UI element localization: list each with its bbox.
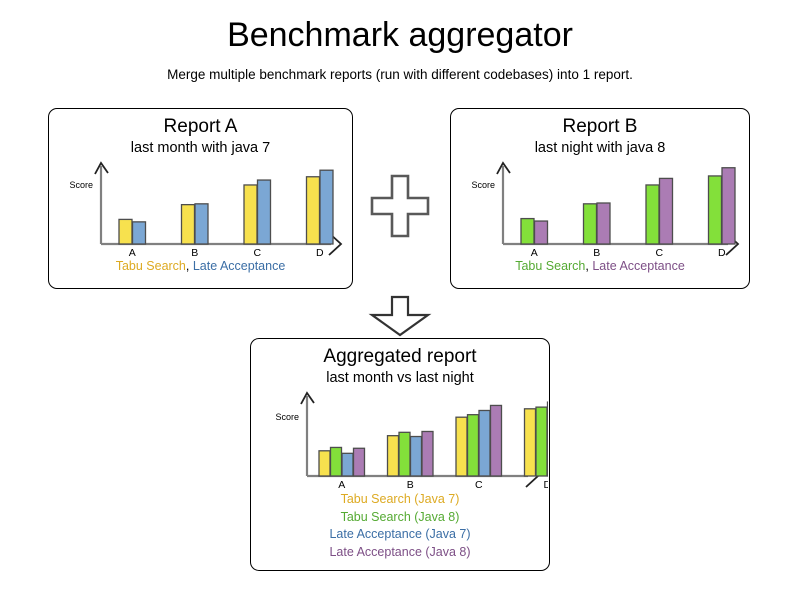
bar — [244, 185, 257, 244]
bar — [307, 177, 320, 244]
bar — [525, 409, 536, 476]
report-b-panel: Report B last night with java 8 ScoreABC… — [450, 108, 750, 289]
legend-item-late-acceptance-java8: Late Acceptance (Java 8) — [251, 544, 549, 562]
bar — [456, 417, 467, 476]
x-axis-tick-label: A — [129, 247, 136, 258]
bar — [331, 447, 342, 476]
bar — [535, 221, 548, 244]
aggregated-report-subtitle: last month vs last night — [251, 369, 549, 388]
report-b-legend: Tabu Search, Late Acceptance — [451, 258, 749, 276]
report-b-chart-svg: ScoreABCD — [451, 158, 748, 258]
x-axis-tick-label: D — [718, 247, 726, 258]
legend-item-late-acceptance: Late Acceptance — [193, 259, 285, 273]
bar — [660, 178, 673, 244]
x-axis-tick-label: D — [316, 247, 324, 258]
x-axis-tick-label: B — [593, 247, 600, 258]
x-axis-tick-label: C — [655, 247, 663, 258]
legend-item-tabu-search-java8: Tabu Search (Java 8) — [251, 509, 549, 527]
x-axis-tick-label: C — [253, 247, 261, 258]
bar — [536, 407, 547, 476]
x-axis-tick-label: B — [191, 247, 198, 258]
bar — [479, 410, 490, 476]
x-axis-tick-label: D — [543, 479, 548, 491]
bar — [722, 168, 735, 244]
bar — [342, 453, 353, 476]
bar — [597, 203, 610, 244]
report-a-subtitle: last month with java 7 — [49, 139, 352, 158]
aggregated-report-chart: ScoreABCD — [251, 388, 549, 491]
bar — [521, 219, 534, 244]
y-axis-label: Score — [275, 412, 299, 422]
report-a-legend: Tabu Search, Late Acceptance — [49, 258, 352, 276]
bar — [399, 432, 410, 476]
bar — [491, 405, 502, 476]
report-a-chart: ScoreABCD — [49, 158, 352, 258]
legend-item-tabu-search-java7: Tabu Search (Java 7) — [251, 491, 549, 509]
down-arrow-icon — [368, 295, 432, 342]
bar — [320, 170, 333, 244]
legend-separator: , — [186, 259, 189, 273]
legend-item-late-acceptance: Late Acceptance — [592, 259, 684, 273]
y-axis-label: Score — [471, 180, 495, 190]
bar — [709, 176, 722, 244]
bar — [468, 415, 479, 476]
bar — [195, 204, 208, 244]
legend-item-tabu-search: Tabu Search — [116, 259, 186, 273]
page-subtitle: Merge multiple benchmark reports (run wi… — [0, 66, 800, 84]
aggregated-report-panel: Aggregated report last month vs last nig… — [250, 338, 550, 571]
aggregated-report-legend: Tabu Search (Java 7) Tabu Search (Java 8… — [251, 491, 549, 561]
x-axis-tick-label: C — [475, 479, 483, 491]
aggregated-report-chart-svg: ScoreABCD — [251, 388, 548, 491]
report-a-panel: Report A last month with java 7 ScoreABC… — [48, 108, 353, 289]
legend-item-late-acceptance-java7: Late Acceptance (Java 7) — [251, 526, 549, 544]
bar — [548, 402, 549, 476]
report-b-title: Report B — [451, 115, 749, 139]
bar — [584, 204, 597, 244]
bar — [119, 219, 132, 244]
x-axis-tick-label: A — [531, 247, 538, 258]
page-title: Benchmark aggregator — [0, 14, 800, 56]
plus-icon — [368, 172, 432, 249]
x-axis-tick-label: B — [407, 479, 414, 491]
bar — [182, 205, 195, 244]
report-a-title: Report A — [49, 115, 352, 139]
bar — [354, 448, 365, 476]
bar — [319, 451, 330, 476]
bar — [258, 180, 271, 244]
report-b-subtitle: last night with java 8 — [451, 139, 749, 158]
x-axis-tick-label: A — [338, 479, 345, 491]
report-a-chart-svg: ScoreABCD — [49, 158, 351, 258]
aggregated-report-title: Aggregated report — [251, 345, 549, 369]
bar — [411, 437, 422, 476]
y-axis-label: Score — [69, 180, 93, 190]
legend-separator: , — [585, 259, 588, 273]
bar — [422, 431, 433, 476]
bar — [388, 436, 399, 476]
bar — [646, 185, 659, 244]
bar — [133, 222, 146, 244]
legend-item-tabu-search: Tabu Search — [515, 259, 585, 273]
report-b-chart: ScoreABCD — [451, 158, 749, 258]
